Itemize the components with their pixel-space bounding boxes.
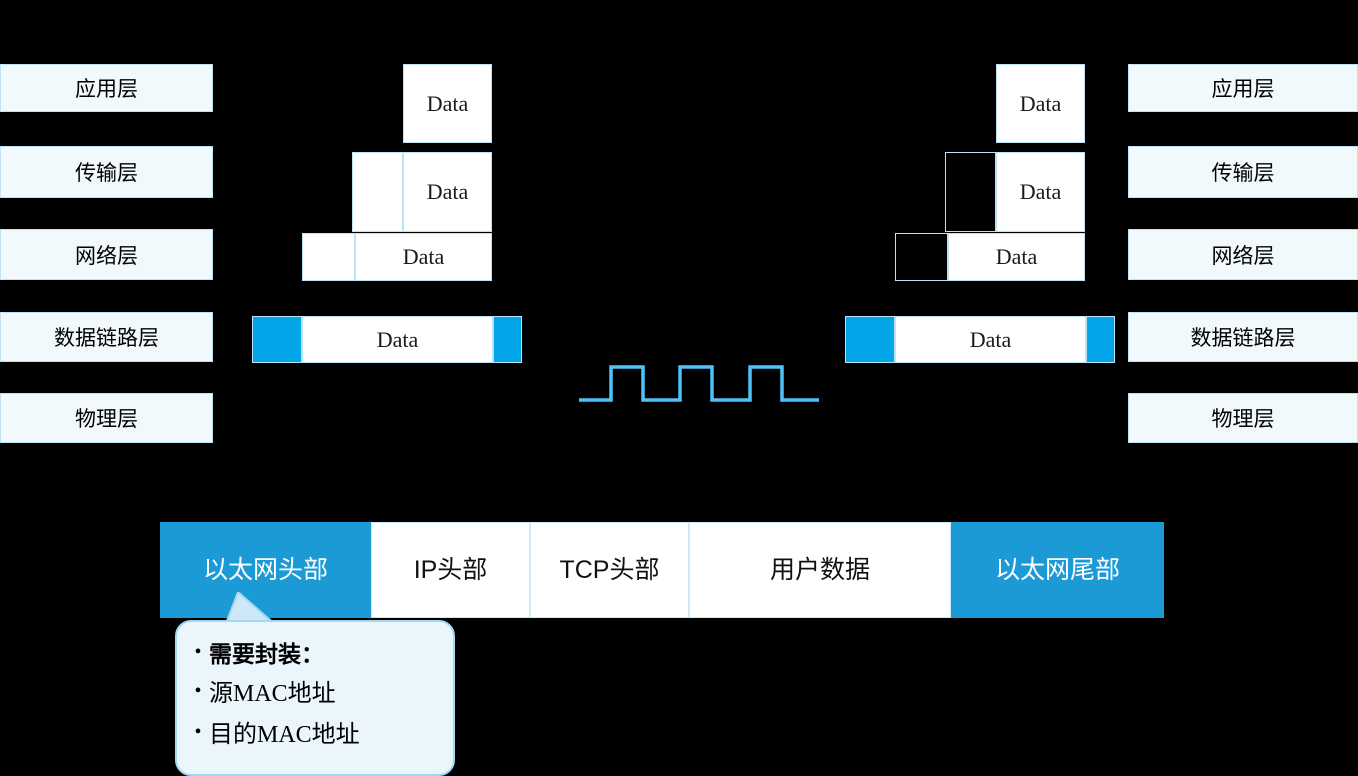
list-item: • 需要封装： [187,638,439,671]
frame-segment-ip-header[interactable]: IP头部 [371,522,530,618]
callout-text: 需要封装： [209,638,324,671]
bullet-icon: • [187,677,209,706]
packet-application-right: Data [996,64,1085,143]
packet-data-segment: Data [403,64,492,143]
packet-data-segment: Data [948,233,1085,281]
layer-label: 网络层 [1129,240,1357,270]
layer-label: 应用层 [1,73,212,103]
packet-data-segment: Data [996,152,1085,232]
sidebar-item-application-left[interactable]: 应用层 [0,64,213,112]
sidebar-item-datalink-left[interactable]: 数据链路层 [0,312,213,362]
packet-header-segment [352,152,403,232]
packet-application-left: Data [403,64,492,143]
packet-data-segment: Data [355,233,492,281]
sidebar-item-network-left[interactable]: 网络层 [0,229,213,280]
packet-network-right: Data [895,233,1085,281]
callout-text: 目的MAC地址 [209,718,360,753]
sidebar-item-transport-right[interactable]: 传输层 [1128,146,1358,198]
packet-datalink-right: Data [845,316,1115,363]
packet-transport-right: Data [945,152,1085,232]
layer-label: 传输层 [1,157,212,187]
layer-label: 传输层 [1129,157,1357,187]
layer-label: 数据链路层 [1,322,212,352]
sidebar-item-physical-left[interactable]: 物理层 [0,393,213,443]
sidebar-item-application-right[interactable]: 应用层 [1128,64,1358,112]
sidebar-item-datalink-right[interactable]: 数据链路层 [1128,312,1358,362]
bullet-icon: • [187,718,209,747]
packet-network-left: Data [302,233,492,281]
frame-segment-tcp-header[interactable]: TCP头部 [530,522,689,618]
callout-list: • 需要封装： • 源MAC地址 • 目的MAC地址 [187,638,439,753]
packet-header-segment [945,152,996,232]
frame-trailer-segment [493,316,522,363]
frame-header-segment [845,316,895,363]
list-item: • 目的MAC地址 [187,718,439,753]
packet-data-segment: Data [996,64,1085,143]
layer-label: 物理层 [1,403,212,433]
packet-data-segment: Data [895,316,1086,363]
bullet-icon: • [187,638,209,667]
layer-label: 网络层 [1,240,212,270]
packet-transport-left: Data [352,152,492,232]
layer-label: 应用层 [1129,73,1357,103]
packet-data-segment: Data [403,152,492,232]
packet-header-segment [895,233,948,281]
sidebar-item-physical-right[interactable]: 物理层 [1128,393,1358,443]
packet-header-segment [302,233,355,281]
packet-data-segment: Data [302,316,493,363]
packet-datalink-left: Data [252,316,522,363]
square-wave-signal [575,355,825,410]
list-item: • 源MAC地址 [187,677,439,712]
callout-tooltip: • 需要封装： • 源MAC地址 • 目的MAC地址 [175,620,455,776]
frame-header-segment [252,316,302,363]
layer-label: 物理层 [1129,403,1357,433]
layer-label: 数据链路层 [1129,322,1357,352]
frame-segment-ethernet-trailer[interactable]: 以太网尾部 [951,522,1164,618]
frame-trailer-segment [1086,316,1115,363]
sidebar-item-network-right[interactable]: 网络层 [1128,229,1358,280]
callout-text: 源MAC地址 [209,677,336,712]
frame-segment-user-data[interactable]: 用户数据 [689,522,951,618]
protocol-stack-diagram: 应用层 传输层 网络层 数据链路层 物理层 Data Data Data [0,0,1358,776]
sidebar-item-transport-left[interactable]: 传输层 [0,146,213,198]
